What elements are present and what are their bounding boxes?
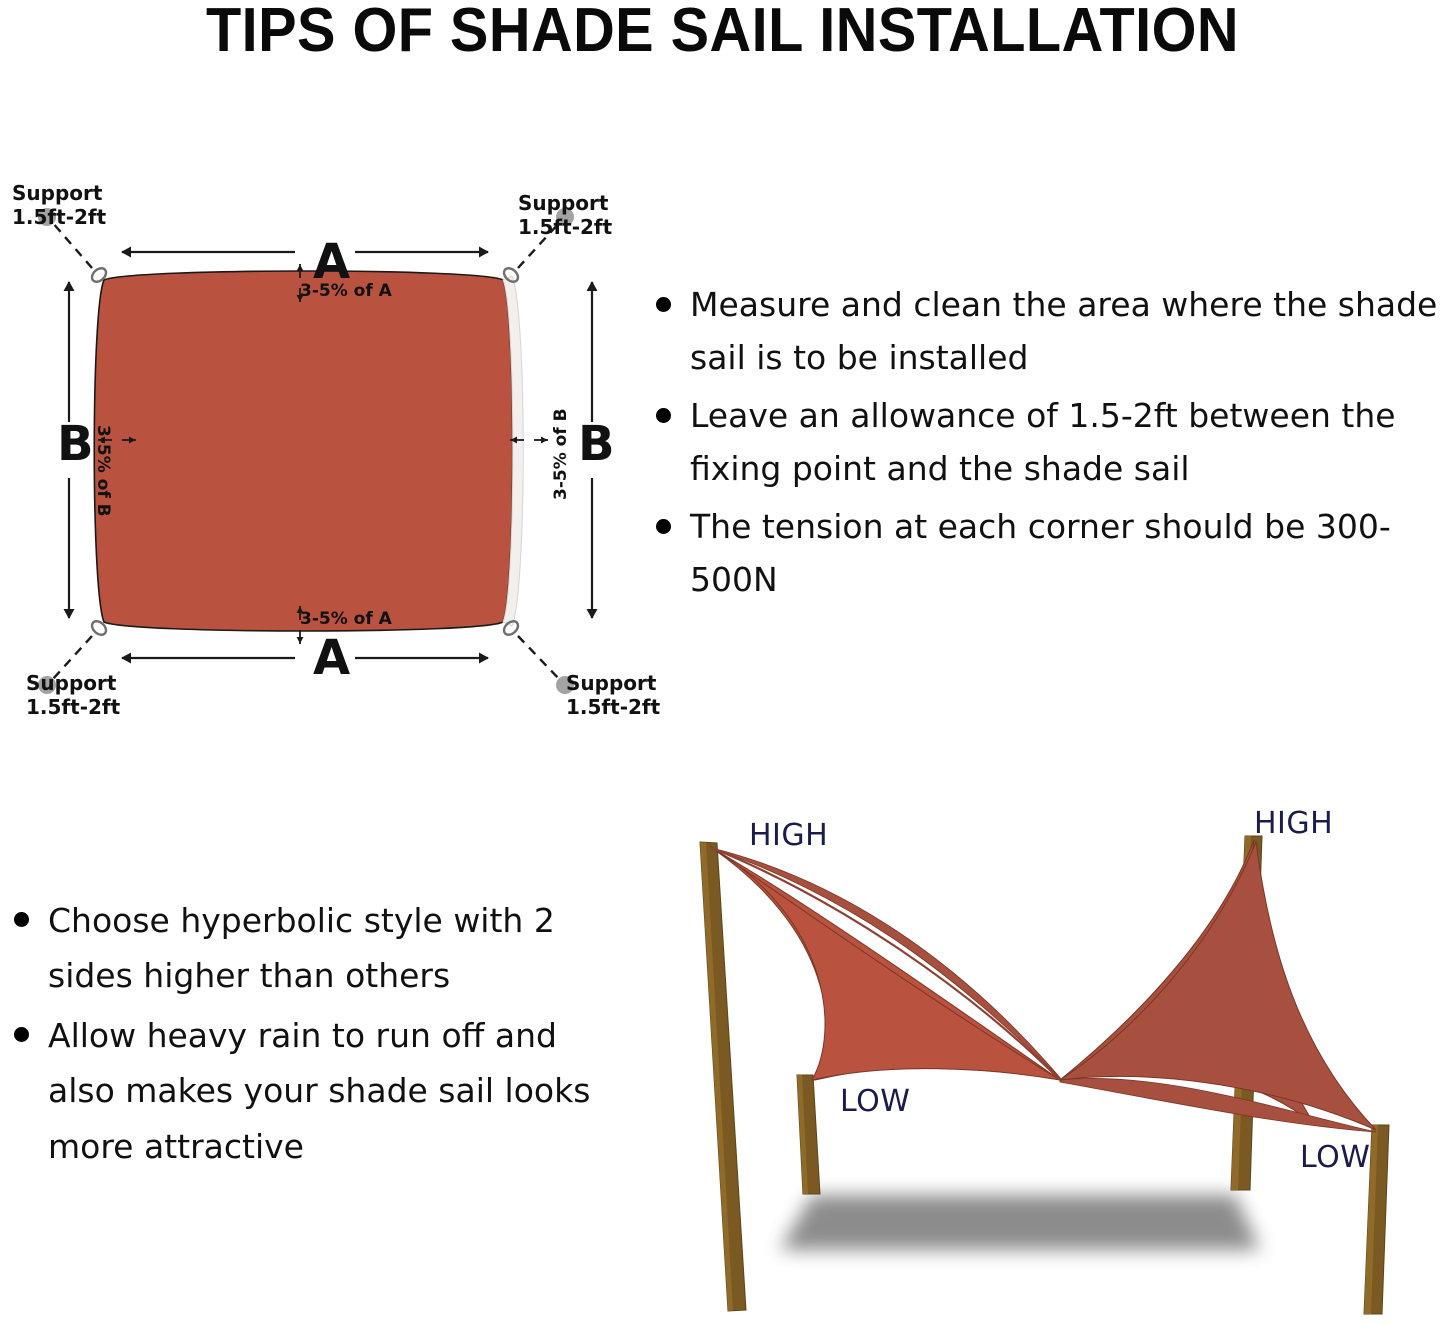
post-label-low-left: LOW <box>840 1084 910 1119</box>
hyperbolic-tips-list: Choose hyperbolic style with 2 sides hig… <box>4 893 624 1174</box>
list-item: Measure and clean the area where the sha… <box>646 278 1445 385</box>
curve-label-right: 3-5% of B <box>551 408 571 500</box>
support-label-line1: Support <box>518 192 612 216</box>
dimension-label-a-top: A <box>313 238 350 286</box>
list-item: Choose hyperbolic style with 2 sides hig… <box>4 893 624 1004</box>
installation-tips-list: Measure and clean the area where the sha… <box>646 278 1445 607</box>
post-high-left <box>700 842 746 1311</box>
support-label-bottom-right: Support 1.5ft-2ft <box>566 672 660 719</box>
support-label-line2: 1.5ft-2ft <box>566 696 660 720</box>
post-label-high-right: HIGH <box>1254 806 1333 841</box>
list-item: The tension at each corner should be 300… <box>646 500 1445 607</box>
support-label-line2: 1.5ft-2ft <box>518 216 612 240</box>
post-low-left <box>797 1075 820 1194</box>
curve-label-bottom: 3-5% of A <box>300 609 392 629</box>
list-item: Allow heavy rain to run off and also mak… <box>4 1008 624 1174</box>
ground-shadow <box>780 1195 1260 1250</box>
dimension-label-a-bottom: A <box>313 634 350 682</box>
page-title: TIPS OF SHADE SAIL INSTALLATION <box>51 0 1395 63</box>
support-label-bottom-left: Support 1.5ft-2ft <box>26 672 120 719</box>
support-label-line2: 1.5ft-2ft <box>26 696 120 720</box>
support-label-top-right: Support 1.5ft-2ft <box>518 192 612 239</box>
hypar-sail-svg <box>660 780 1445 1319</box>
list-item: Leave an allowance of 1.5-2ft between th… <box>646 389 1445 496</box>
hypar-sail-diagram <box>660 780 1445 1319</box>
support-label-top-left: Support 1.5ft-2ft <box>12 182 106 229</box>
support-label-line1: Support <box>26 672 120 696</box>
hyperbolic-tips-section: Choose hyperbolic style with 2 sides hig… <box>4 893 624 1178</box>
support-label-line2: 1.5ft-2ft <box>12 206 106 230</box>
installation-tips-section: Measure and clean the area where the sha… <box>646 278 1445 611</box>
support-label-line1: Support <box>566 672 660 696</box>
infographic-page: TIPS OF SHADE SAIL INSTALLATION <box>0 0 1445 1319</box>
dimension-label-b-right: B <box>578 420 615 468</box>
shade-sail-shape <box>94 271 513 631</box>
curve-label-top: 3-5% of A <box>300 281 392 301</box>
post-label-low-right: LOW <box>1300 1140 1370 1175</box>
support-label-line1: Support <box>12 182 106 206</box>
curve-label-left: 3-5% of B <box>93 425 113 517</box>
leader-bottom-right <box>518 636 560 680</box>
dimension-label-b-left: B <box>57 420 94 468</box>
post-label-high-left: HIGH <box>749 818 828 853</box>
